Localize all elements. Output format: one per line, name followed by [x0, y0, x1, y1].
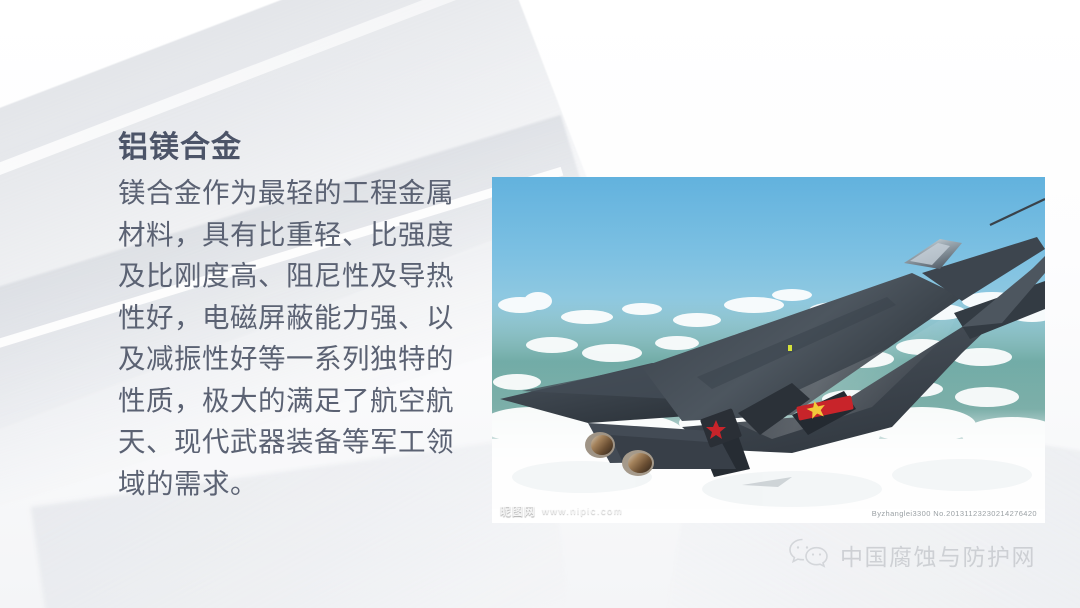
body-paragraph: 镁合金作为最轻的工程金属材料，具有比重轻、比强度及比刚度高、阻尼性及导热性好，电…	[118, 172, 470, 504]
stock-watermark-url: www.nipic.com	[542, 506, 623, 517]
stock-photo-watermark: 昵图网 www.nipic.com	[500, 503, 623, 519]
fighter-jet-photo: 昵图网 www.nipic.com Byzhanglei3300 No.2013…	[492, 177, 1045, 523]
wechat-watermark-text: 中国腐蚀与防护网	[840, 538, 1036, 572]
fighter-jet-illustration	[492, 177, 1045, 523]
stock-watermark-cn: 昵图网	[500, 503, 536, 519]
page-title: 铝镁合金	[118, 130, 470, 166]
wechat-icon	[786, 536, 830, 573]
slide-canvas: 铝镁合金 镁合金作为最轻的工程金属材料，具有比重轻、比强度及比刚度高、阻尼性及导…	[0, 0, 1080, 608]
wechat-watermark: 中国腐蚀与防护网	[786, 536, 1036, 573]
photo-credit-text: Byzhanglei3300 No.20131123230214276420	[872, 509, 1037, 518]
text-column: 铝镁合金 镁合金作为最轻的工程金属材料，具有比重轻、比强度及比刚度高、阻尼性及导…	[118, 130, 470, 504]
